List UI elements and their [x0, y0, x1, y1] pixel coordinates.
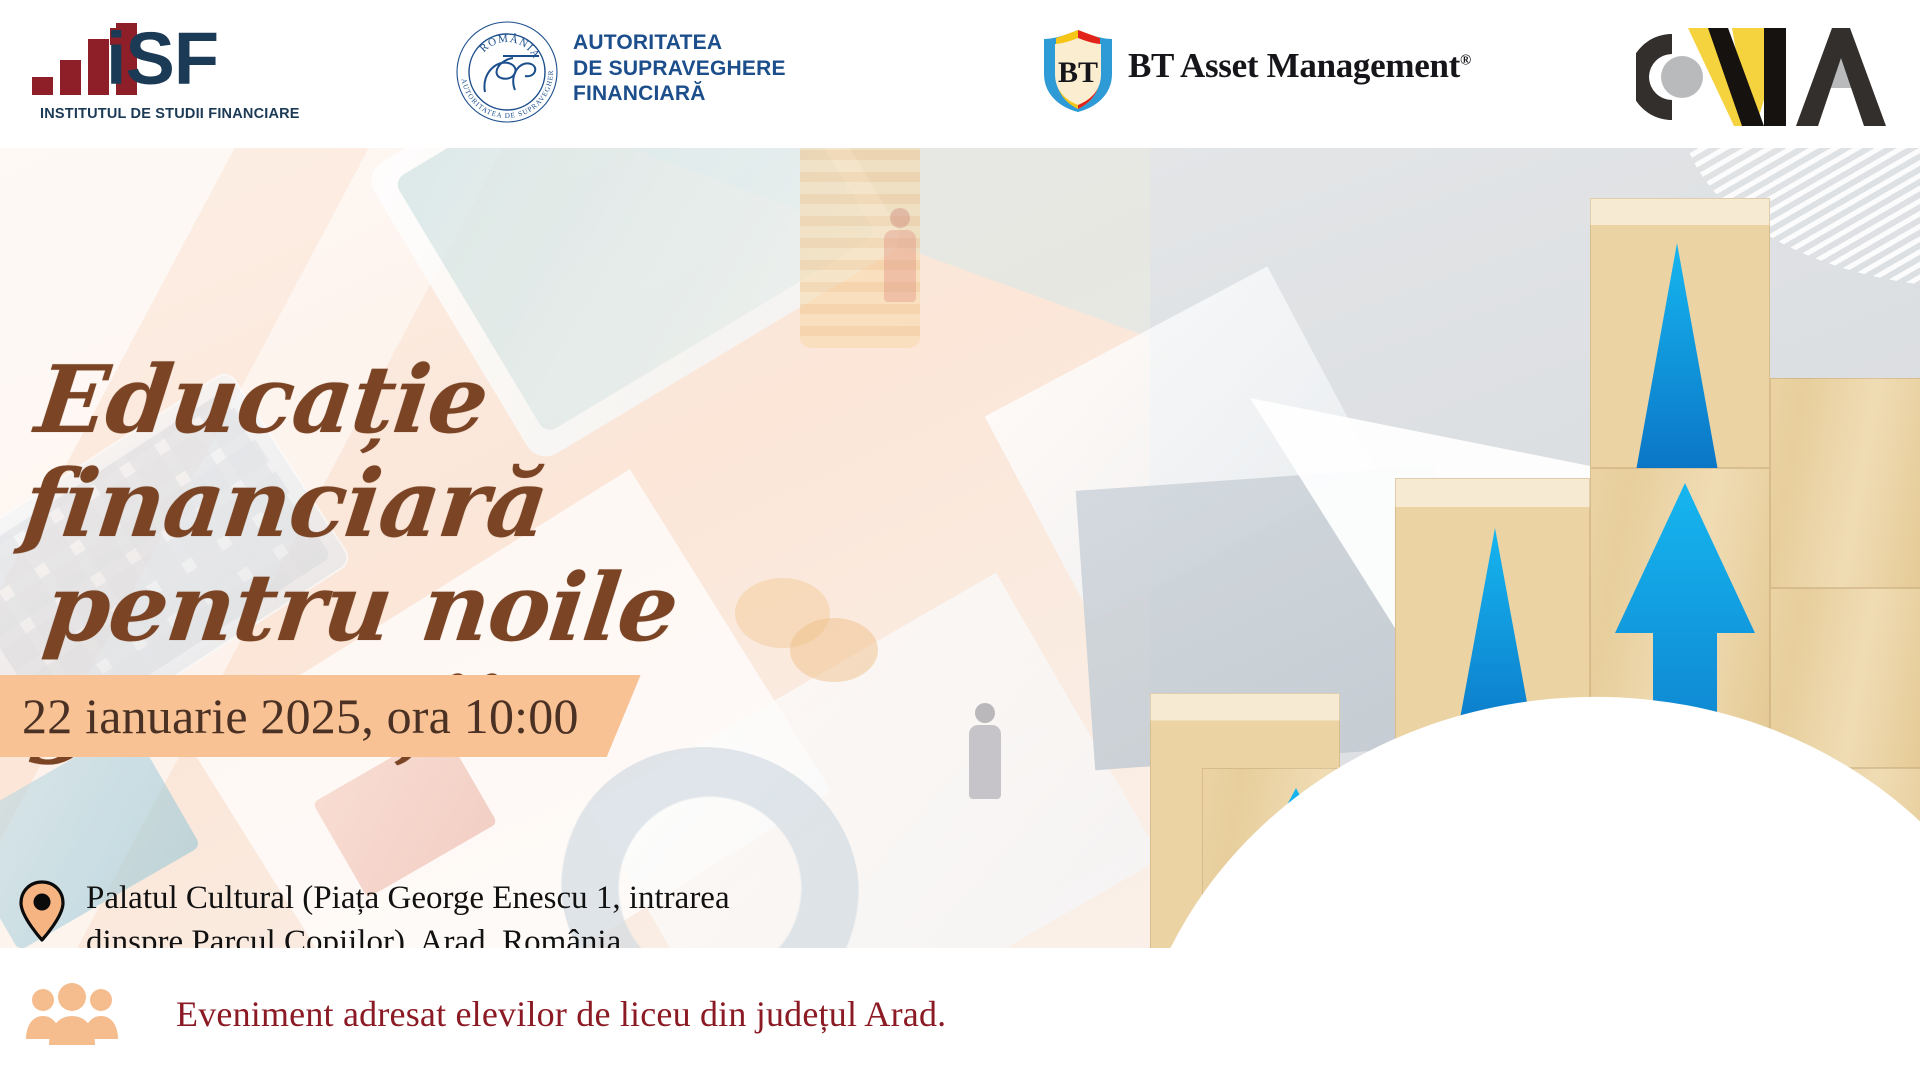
title-line-1: Educație financiară	[18, 345, 554, 558]
asf-wordmark: AUTORITATEA DE SUPRAVEGHERE FINANCIARĂ	[573, 30, 786, 107]
location-text: Palatul Cultural (Piața George Enescu 1,…	[86, 876, 730, 948]
svg-text:ROMÂNIA: ROMÂNIA	[478, 33, 543, 62]
asf-line-3: FINANCIARĂ	[573, 81, 786, 107]
event-date: 22 ianuarie 2025, ora 10:00	[22, 687, 579, 745]
wooden-blocks-photo	[1150, 148, 1920, 948]
isf-acronym: iSF	[106, 22, 218, 96]
location-line-1: Palatul Cultural (Piața George Enescu 1,…	[86, 876, 730, 920]
location-block: Palatul Cultural (Piața George Enescu 1,…	[18, 876, 730, 948]
logo-bar: iSF INSTITUTUL DE STUDII FINANCIARE ROMÂ…	[0, 0, 1920, 148]
isf-subtitle: INSTITUTUL DE STUDII FINANCIARE	[40, 106, 300, 122]
arrow-up-icon	[1622, 243, 1732, 493]
bt-wordmark: BT Asset Management®	[1128, 46, 1471, 86]
map-pin-icon	[18, 880, 66, 942]
footer-text: Eveniment adresat elevilor de liceu din …	[176, 993, 946, 1035]
cma-logo	[1636, 14, 1896, 126]
isf-logo: iSF INSTITUTUL DE STUDII FINANCIARE	[28, 22, 243, 127]
svg-text:BT: BT	[1058, 56, 1098, 89]
location-line-2: dinspre Parcul Copiilor), Arad, România	[86, 920, 730, 948]
group-of-people-icon	[26, 983, 118, 1045]
bt-shield-icon: BT	[1040, 28, 1116, 114]
asf-logo: ROMÂNIA AUTORITATEA DE SUPRAVEGHERE FINA…	[455, 16, 815, 128]
asf-line-2: DE SUPRAVEGHERE	[573, 56, 786, 82]
asf-line-1: AUTORITATEA	[573, 30, 786, 56]
bt-wordmark-text: BT Asset Management	[1128, 46, 1460, 85]
event-poster: iSF INSTITUTUL DE STUDII FINANCIARE ROMÂ…	[0, 0, 1920, 1080]
bt-asset-management-logo: BT BT Asset Management®	[1040, 24, 1440, 122]
date-badge: 22 ianuarie 2025, ora 10:00	[0, 675, 641, 757]
bt-registered-mark: ®	[1460, 52, 1471, 68]
asf-seal-icon: ROMÂNIA AUTORITATEA DE SUPRAVEGHERE FINA…	[455, 20, 559, 124]
footer-bar: Eveniment adresat elevilor de liceu din …	[0, 948, 1920, 1080]
block	[1770, 378, 1920, 588]
banner: Educație financiară pentru noile generaț…	[0, 148, 1920, 948]
